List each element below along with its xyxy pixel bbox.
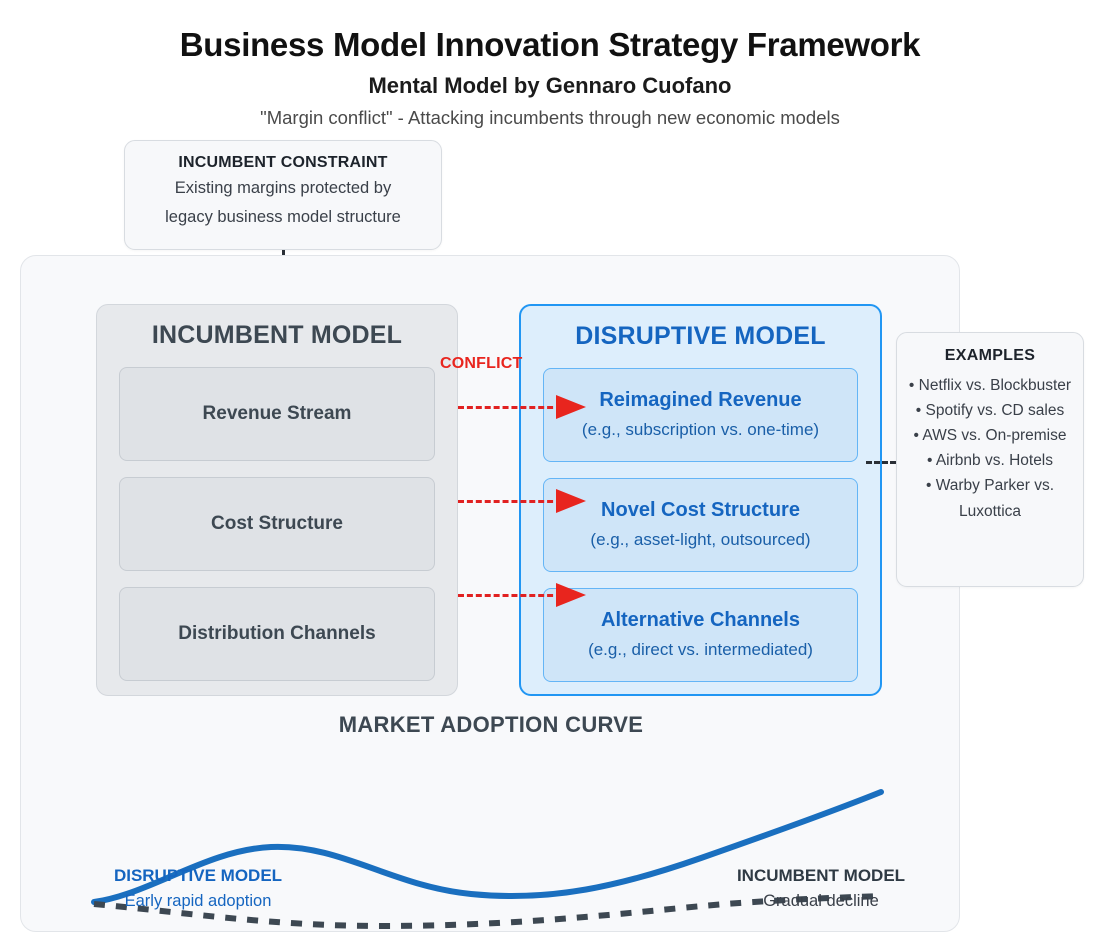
example-item: • AWS vs. On-premise xyxy=(905,423,1075,448)
market-adoption-curve-heading: MARKET ADOPTION CURVE xyxy=(21,712,961,738)
example-item: • Airbnb vs. Hotels xyxy=(905,448,1075,473)
conflict-label: CONFLICT xyxy=(440,355,522,373)
disruptive-item-reimagined-revenue[interactable]: Reimagined Revenue (e.g., subscription v… xyxy=(543,368,858,462)
item-title: Revenue Stream xyxy=(203,402,352,426)
example-item: • Netflix vs. Blockbuster xyxy=(905,373,1075,398)
constraint-title: INCUMBENT CONSTRAINT xyxy=(139,153,427,174)
page-tagline: "Margin conflict" - Attacking incumbents… xyxy=(0,98,1100,128)
conflict-arrow-head-icon xyxy=(556,583,586,607)
incumbent-item-distribution-channels[interactable]: Distribution Channels xyxy=(119,587,435,681)
curve-legend-incumbent-sub: Gradual decline xyxy=(696,889,946,914)
curve-legend-disruptive-sub: Early rapid adoption xyxy=(73,889,323,914)
item-title: Distribution Channels xyxy=(178,622,375,646)
conflict-arrow-revenue xyxy=(458,406,583,409)
item-title: Reimagined Revenue xyxy=(599,388,801,413)
page-header: Business Model Innovation Strategy Frame… xyxy=(0,0,1100,129)
curve-legend-incumbent: INCUMBENT MODEL Gradual decline xyxy=(696,863,946,913)
example-item: • Warby Parker vs. Luxottica xyxy=(905,473,1075,523)
incumbent-items-list: Revenue Stream Cost Structure Distributi… xyxy=(119,367,435,697)
incumbent-item-cost-structure[interactable]: Cost Structure xyxy=(119,477,435,571)
examples-box: EXAMPLES • Netflix vs. Blockbuster • Spo… xyxy=(896,332,1084,587)
curve-legend-disruptive-title: DISRUPTIVE MODEL xyxy=(73,863,323,889)
item-title: Novel Cost Structure xyxy=(601,498,800,523)
curve-legend-disruptive: DISRUPTIVE MODEL Early rapid adoption xyxy=(73,863,323,913)
item-subtitle: (e.g., direct vs. intermediated) xyxy=(588,633,813,662)
disruptive-items-list: Reimagined Revenue (e.g., subscription v… xyxy=(543,368,858,698)
disruptive-model-heading: DISRUPTIVE MODEL xyxy=(521,306,880,351)
page-subtitle: Mental Model by Gennaro Cuofano xyxy=(0,64,1100,98)
incumbent-item-revenue-stream[interactable]: Revenue Stream xyxy=(119,367,435,461)
item-subtitle: (e.g., asset-light, outsourced) xyxy=(590,523,810,552)
examples-connector-line xyxy=(866,461,896,464)
page-title: Business Model Innovation Strategy Frame… xyxy=(0,0,1100,64)
disruptive-item-alternative-channels[interactable]: Alternative Channels (e.g., direct vs. i… xyxy=(543,588,858,682)
conflict-arrow-head-icon xyxy=(556,489,586,513)
incumbent-constraint-box: INCUMBENT CONSTRAINT Existing margins pr… xyxy=(124,140,442,250)
curve-legend-incumbent-title: INCUMBENT MODEL xyxy=(696,863,946,889)
examples-title: EXAMPLES xyxy=(905,347,1075,373)
constraint-line-1: Existing margins protected by xyxy=(139,174,427,203)
conflict-arrow-line xyxy=(458,500,562,503)
constraint-line-2: legacy business model structure xyxy=(139,203,427,232)
incumbent-model-panel: INCUMBENT MODEL Revenue Stream Cost Stru… xyxy=(96,304,458,696)
conflict-arrow-line xyxy=(458,406,562,409)
item-subtitle: (e.g., subscription vs. one-time) xyxy=(582,413,819,442)
conflict-arrow-head-icon xyxy=(556,395,586,419)
item-title: Alternative Channels xyxy=(601,608,800,633)
conflict-arrow-line xyxy=(458,594,562,597)
example-item: • Spotify vs. CD sales xyxy=(905,398,1075,423)
disruptive-item-novel-cost-structure[interactable]: Novel Cost Structure (e.g., asset-light,… xyxy=(543,478,858,572)
conflict-arrow-cost xyxy=(458,500,583,503)
item-title: Cost Structure xyxy=(211,512,343,536)
conflict-arrow-channels xyxy=(458,594,583,597)
incumbent-model-heading: INCUMBENT MODEL xyxy=(97,305,457,350)
